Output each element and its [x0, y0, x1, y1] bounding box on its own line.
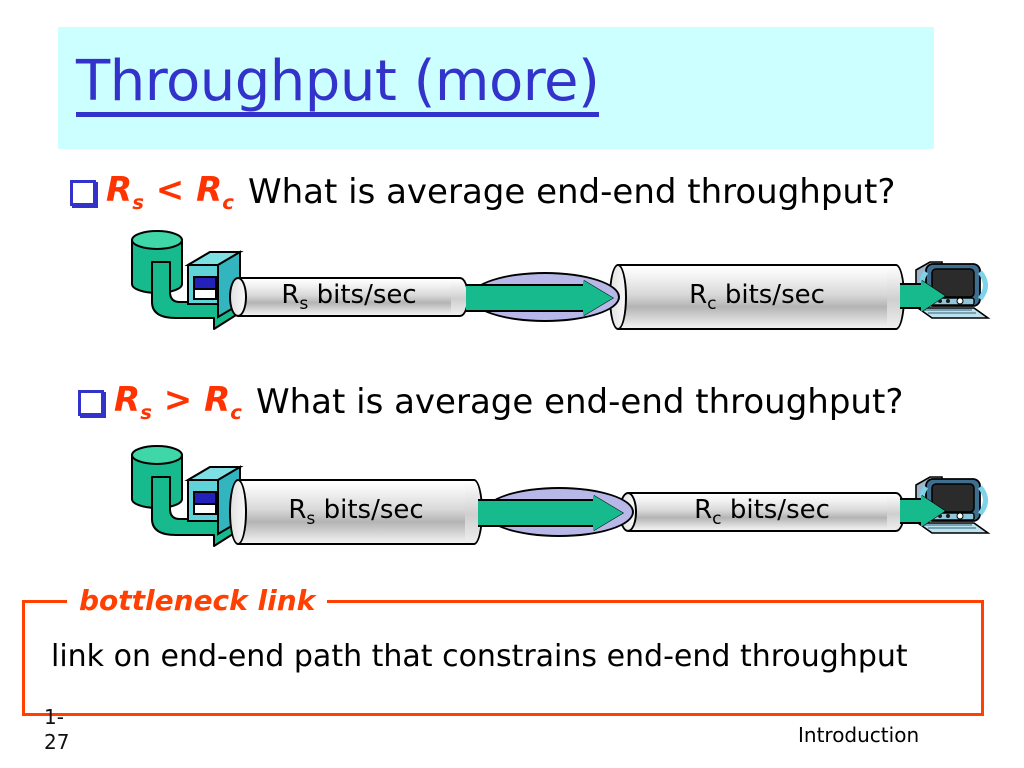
condition-right-subscript: c [230, 401, 242, 424]
client-link-subscript: c [712, 509, 721, 529]
client-link-unit: bits/sec [725, 280, 825, 310]
client-link-label: Rc bits/sec [689, 280, 825, 314]
bottleneck-description: link on end-end path that constrains end… [51, 639, 908, 674]
client-link-label: Rc bits/sec [694, 495, 830, 529]
condition-operator: > [164, 380, 193, 420]
condition-right: R [204, 380, 230, 420]
bullet-question: What is average end-end throughput? [248, 172, 895, 212]
server-link-subscript: s [299, 294, 308, 314]
diagram-rs-less-than-rc: Rs bits/sec Rc bits/sec [118, 222, 1024, 347]
client-link-rate: R [694, 495, 712, 525]
throughput-arrow-middle [478, 495, 624, 531]
condition-right: R [196, 170, 222, 210]
throughput-arrow-middle [466, 280, 614, 316]
arrow-head [921, 495, 945, 527]
condition-right-subscript: c [222, 191, 234, 214]
footer-section-label: Introduction [798, 723, 919, 747]
bottleneck-legend: bottleneck link [67, 584, 327, 617]
page-title: Throughput (more) [76, 53, 599, 117]
client-link-pipe: Rc bits/sec [628, 492, 896, 532]
slide-number-line-1: 1- [44, 705, 114, 730]
condition-operator: < [156, 170, 185, 210]
server-link-pipe: Rs bits/sec [238, 479, 474, 545]
throughput-arrow-to-client [900, 495, 946, 527]
condition-left: R [106, 170, 132, 210]
client-link-unit: bits/sec [730, 495, 830, 525]
square-bullet-icon [78, 390, 104, 416]
slide-number: 1- 27 [44, 705, 114, 755]
server-link-label: Rs bits/sec [288, 495, 423, 529]
arrow-head [583, 280, 613, 316]
arrow-shaft [900, 498, 922, 524]
condition-left: R [114, 380, 140, 420]
square-bullet-icon [70, 180, 96, 206]
arrow-head [921, 280, 945, 312]
bullet-row: Rs < Rc What is average end-end throughp… [70, 170, 895, 214]
condition-left-subscript: s [140, 401, 152, 424]
client-link-pipe: Rc bits/sec [618, 264, 896, 330]
bullet-question: What is average end-end throughput? [256, 382, 903, 422]
server-link-pipe: Rs bits/sec [238, 277, 460, 317]
server-link-unit: bits/sec [317, 280, 417, 310]
server-link-rate: R [288, 495, 306, 525]
arrow-head [593, 495, 623, 531]
condition-expression: Rs > Rc [114, 380, 242, 424]
slide-number-line-2: 27 [44, 730, 114, 755]
throughput-arrow-to-client [900, 280, 946, 312]
condition-left-subscript: s [132, 191, 144, 214]
arrow-shaft [466, 284, 584, 312]
server-link-rate: R [281, 280, 299, 310]
title-banner: Throughput (more) [58, 27, 934, 149]
arrow-shaft [478, 499, 594, 527]
client-link-rate: R [689, 280, 707, 310]
client-link-subscript: c [707, 294, 716, 314]
server-link-subscript: s [306, 509, 315, 529]
server-link-label: Rs bits/sec [281, 280, 416, 314]
condition-expression: Rs < Rc [106, 170, 234, 214]
bullet-row: Rs > Rc What is average end-end throughp… [78, 380, 903, 424]
server-link-unit: bits/sec [324, 495, 424, 525]
arrow-shaft [900, 283, 922, 309]
bottleneck-definition-box: bottleneck link link on end-end path tha… [22, 600, 984, 716]
diagram-rs-greater-than-rc: Rs bits/sec Rc bits/sec [118, 437, 1024, 567]
